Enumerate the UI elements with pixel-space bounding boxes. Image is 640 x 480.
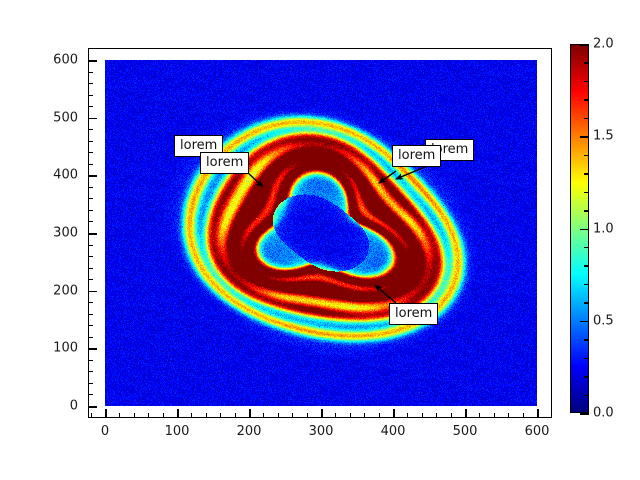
colorbar-minor-tick	[584, 210, 589, 212]
annotation-label-2[interactable]: lorem	[200, 152, 249, 174]
colorbar-minor-tick	[584, 192, 589, 194]
y-minor-tick	[88, 245, 93, 246]
colorbar-tick-label: 0.0	[593, 406, 614, 421]
colorbar-minor-tick	[584, 284, 589, 286]
x-minor-tick	[451, 413, 452, 418]
y-major-tick	[88, 348, 97, 350]
colorbar-major-tick	[580, 321, 589, 323]
colorbar-minor-tick	[584, 339, 589, 341]
x-minor-tick	[379, 413, 380, 418]
colorbar-minor-tick	[584, 358, 589, 360]
x-tick-label: 0	[101, 424, 109, 439]
colorbar-minor-tick	[584, 265, 589, 267]
y-tick-label: 400	[53, 168, 78, 183]
x-minor-tick	[220, 413, 221, 418]
x-tick-label: 400	[381, 424, 406, 439]
x-minor-tick	[364, 413, 365, 418]
x-tick-label: 500	[453, 424, 478, 439]
y-major-tick	[88, 118, 97, 120]
annotation-label-4[interactable]: lorem	[392, 145, 441, 167]
x-major-tick	[465, 409, 467, 418]
x-minor-tick	[479, 413, 480, 418]
y-tick-label: 0	[70, 399, 78, 414]
heatmap-image	[105, 60, 537, 406]
x-major-tick	[249, 409, 251, 418]
colorbar-minor-tick	[584, 62, 589, 64]
x-minor-tick	[91, 413, 92, 418]
y-major-tick	[88, 60, 97, 62]
y-minor-tick	[88, 360, 93, 361]
x-minor-tick	[307, 413, 308, 418]
y-major-tick	[88, 291, 97, 293]
y-minor-tick	[88, 314, 93, 315]
y-minor-tick	[88, 72, 93, 73]
y-minor-tick	[88, 152, 93, 153]
colorbar-major-tick	[580, 44, 589, 46]
x-minor-tick	[148, 413, 149, 418]
y-major-tick	[88, 406, 97, 408]
x-minor-tick	[335, 413, 336, 418]
colorbar-tick-label: 2.0	[593, 37, 614, 52]
x-major-tick	[537, 409, 539, 418]
y-minor-tick	[88, 268, 93, 269]
colorbar-minor-tick	[584, 247, 589, 249]
colorbar-minor-tick	[584, 302, 589, 304]
y-minor-tick	[88, 164, 93, 165]
colorbar-major-tick	[580, 136, 589, 138]
x-tick-label: 100	[165, 424, 190, 439]
y-tick-label: 500	[53, 110, 78, 125]
y-minor-tick	[88, 198, 93, 199]
x-minor-tick	[422, 413, 423, 418]
x-minor-tick	[350, 413, 351, 418]
x-major-tick	[177, 409, 179, 418]
colorbar-tick-label: 0.5	[593, 313, 614, 328]
x-tick-label: 300	[309, 424, 334, 439]
colorbar-minor-tick	[584, 395, 589, 397]
y-minor-tick	[88, 141, 93, 142]
y-minor-tick	[88, 95, 93, 96]
colorbar-minor-tick	[584, 118, 589, 120]
y-minor-tick	[88, 383, 93, 384]
y-minor-tick	[88, 302, 93, 303]
y-minor-tick	[88, 129, 93, 130]
colorbar-tick-label: 1.0	[593, 221, 614, 236]
x-minor-tick	[235, 413, 236, 418]
x-minor-tick	[278, 413, 279, 418]
y-major-tick	[88, 175, 97, 177]
y-minor-tick	[88, 325, 93, 326]
colorbar-minor-tick	[584, 173, 589, 175]
x-minor-tick	[292, 413, 293, 418]
y-minor-tick	[88, 221, 93, 222]
y-minor-tick	[88, 337, 93, 338]
annotation-label-5[interactable]: lorem	[389, 303, 438, 325]
y-tick-label: 600	[53, 53, 78, 68]
y-tick-label: 100	[53, 341, 78, 356]
x-minor-tick	[523, 413, 524, 418]
x-tick-label: 600	[525, 424, 550, 439]
colorbar-minor-tick	[584, 155, 589, 157]
colorbar-minor-tick	[584, 99, 589, 101]
colorbar-minor-tick	[584, 376, 589, 378]
colorbar-minor-tick	[584, 81, 589, 83]
x-minor-tick	[494, 413, 495, 418]
colorbar-tick-label: 1.5	[593, 129, 614, 144]
x-minor-tick	[191, 413, 192, 418]
x-major-tick	[105, 409, 107, 418]
x-minor-tick	[407, 413, 408, 418]
x-minor-tick	[134, 413, 135, 418]
x-tick-label: 200	[237, 424, 262, 439]
y-tick-label: 300	[53, 226, 78, 241]
x-minor-tick	[163, 413, 164, 418]
colorbar-major-tick	[580, 229, 589, 231]
y-minor-tick	[88, 371, 93, 372]
x-minor-tick	[119, 413, 120, 418]
x-minor-tick	[263, 413, 264, 418]
y-minor-tick	[88, 279, 93, 280]
y-minor-tick	[88, 187, 93, 188]
y-minor-tick	[88, 83, 93, 84]
figure-root: 0100200300400500600 0100200300400500600 …	[0, 0, 640, 480]
x-minor-tick	[508, 413, 509, 418]
y-minor-tick	[88, 106, 93, 107]
x-major-tick	[393, 409, 395, 418]
y-minor-tick	[88, 256, 93, 257]
colorbar-major-tick	[580, 413, 589, 415]
x-minor-tick	[206, 413, 207, 418]
y-minor-tick	[88, 210, 93, 211]
y-major-tick	[88, 233, 97, 235]
x-major-tick	[321, 409, 323, 418]
y-tick-label: 200	[53, 283, 78, 298]
x-minor-tick	[436, 413, 437, 418]
y-minor-tick	[88, 394, 93, 395]
